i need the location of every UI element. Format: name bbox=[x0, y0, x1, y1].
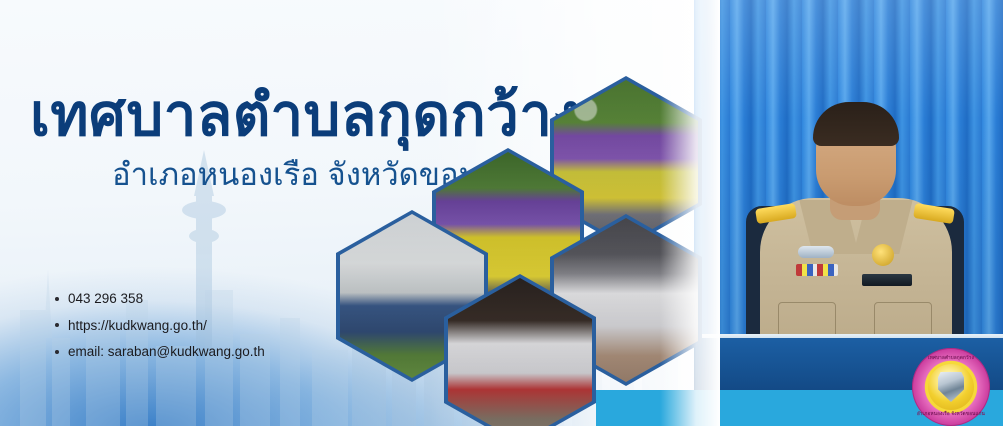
seal-center bbox=[928, 364, 974, 410]
contact-item-email[interactable]: email: saraban@kudkwang.go.th bbox=[55, 345, 265, 359]
name-tag bbox=[862, 274, 912, 286]
shield-icon bbox=[938, 372, 964, 402]
wing-badge-icon bbox=[798, 246, 834, 258]
seal-bottom-text: อำเภอหนองเรือ จังหวัดขอนแก่น bbox=[912, 411, 990, 418]
seal-top-text: เทศบาลตำบลกุดกว้าง bbox=[912, 355, 990, 362]
rank-insignia-icon bbox=[872, 244, 894, 266]
hair bbox=[813, 102, 899, 146]
bullet-icon bbox=[55, 350, 59, 354]
contact-phone-label: 043 296 358 bbox=[68, 292, 143, 306]
contact-list: 043 296 358 https://kudkwang.go.th/ emai… bbox=[55, 292, 265, 372]
contact-website-label[interactable]: https://kudkwang.go.th/ bbox=[68, 319, 207, 333]
contact-email-label[interactable]: email: saraban@kudkwang.go.th bbox=[68, 345, 265, 359]
contact-item-phone: 043 296 358 bbox=[55, 292, 265, 306]
bullet-icon bbox=[55, 297, 59, 301]
municipality-banner: เทศบาลตำบลกุดกว้าง อำเภอหนองเรือ จังหวัด… bbox=[0, 0, 1003, 426]
panel-divider bbox=[660, 0, 720, 426]
service-ribbons-icon bbox=[796, 264, 838, 276]
contact-item-website[interactable]: https://kudkwang.go.th/ bbox=[55, 319, 265, 333]
bullet-icon bbox=[55, 323, 59, 327]
municipality-seal-logo[interactable]: เทศบาลตำบลกุดกว้าง อำเภอหนองเรือ จังหวัด… bbox=[912, 348, 990, 426]
